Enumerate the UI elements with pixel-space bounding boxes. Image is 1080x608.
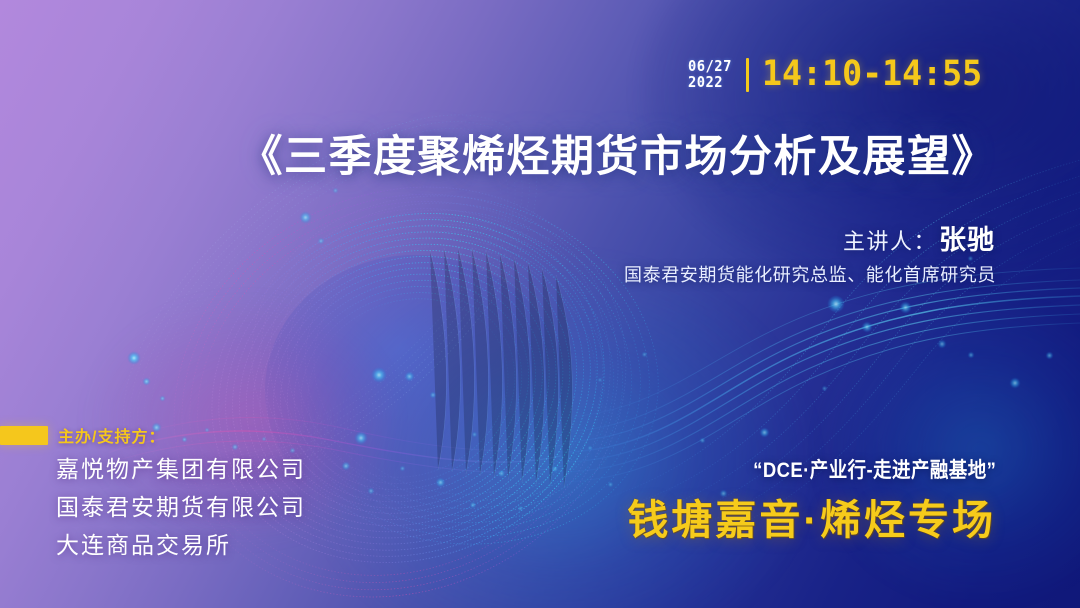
page-title: 《三季度聚烯烃期货市场分析及展望》: [240, 122, 997, 184]
poster-canvas: 06/27 2022 14:10-14:55 《三季度聚烯烃期货市场分析及展望》…: [0, 0, 1080, 608]
date-year: 2022: [688, 75, 723, 90]
list-item: 大连商品交易所: [56, 526, 306, 560]
speaker-name: 张驰: [939, 218, 995, 257]
date-block: 06/27 2022: [688, 59, 732, 90]
poster-content: 06/27 2022 14:10-14:55 《三季度聚烯烃期货市场分析及展望》…: [0, 0, 1080, 608]
event-name: 钱塘嘉音·烯烃专场: [627, 486, 996, 546]
speaker-credentials: 国泰君安期货能化研究总监、能化首席研究员: [624, 261, 996, 287]
organizers-heading: 主办/支持方：: [58, 423, 165, 447]
speaker-label: 主讲人：: [843, 224, 937, 256]
datetime-separator: [746, 58, 749, 92]
time-range: 14:10-14:55: [762, 57, 982, 92]
datetime-block: 06/27 2022 14:10-14:55: [688, 57, 994, 92]
event-subtitle: “DCE·产业行-走进产融基地”: [753, 454, 996, 484]
organizers-heading-row: 主办/支持方：: [0, 423, 165, 447]
organizers-list: 嘉悦物产集团有限公司 国泰君安期货有限公司 大连商品交易所: [56, 450, 306, 560]
accent-bar: [0, 426, 48, 445]
list-item: 国泰君安期货有限公司: [56, 488, 306, 522]
list-item: 嘉悦物产集团有限公司: [56, 450, 306, 484]
speaker-block: 主讲人： 张驰: [843, 218, 995, 257]
